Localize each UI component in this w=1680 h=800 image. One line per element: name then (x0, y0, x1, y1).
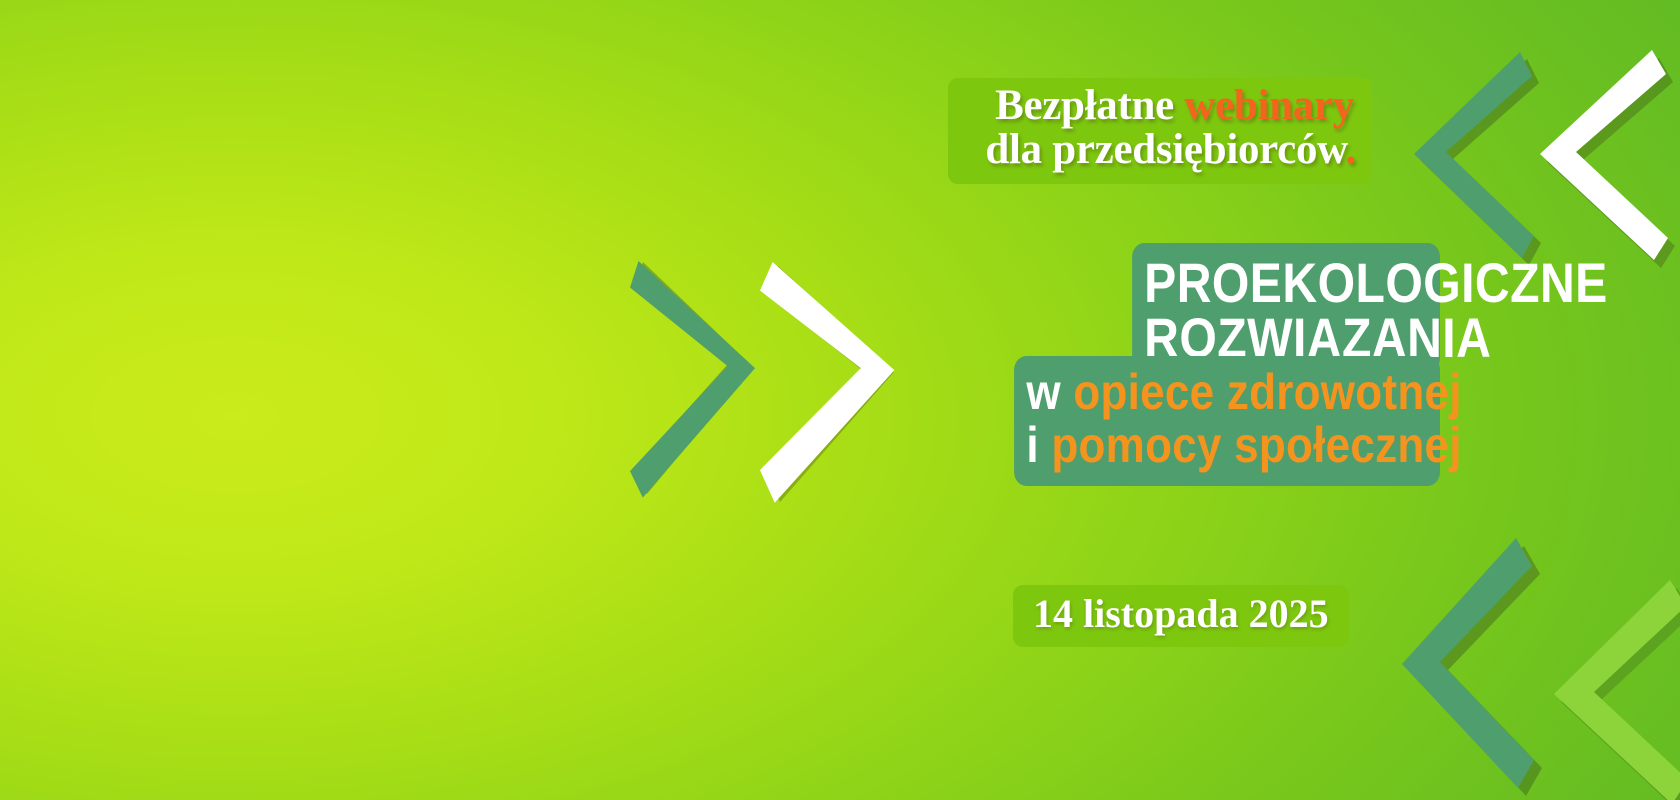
headline-line-4-white: i (1026, 417, 1038, 473)
headline-top-panel: PROEKOLOGICZNE ROZWIĄZANIA (1132, 243, 1440, 372)
kicker-highlight: webinary (1184, 82, 1354, 129)
chevron-right-green-icon (630, 255, 780, 513)
headline-block: PROEKOLOGICZNE ROZWIĄZANIA w opiece zdro… (956, 243, 1440, 486)
headline-line-4-orange: pomocy społecznej (1051, 417, 1461, 473)
headline-bottom-panel: w opiece zdrowotnej i pomocy społecznej (1014, 356, 1440, 486)
headline-line-3: w opiece zdrowotnej (1026, 366, 1427, 419)
headline-line-1: PROEKOLOGICZNE (1144, 255, 1428, 310)
kicker-plain-2: dla przedsiębiorców (985, 126, 1345, 173)
headline-line-3-orange: opiece zdrowotnej (1073, 364, 1461, 420)
kicker-badge: Bezpłatne webinary dla przedsiębiorców. (948, 78, 1372, 184)
kicker-period: . (1346, 126, 1356, 173)
chevron-left-green-bottom-icon (1400, 538, 1552, 790)
headline-line-3-white: w (1026, 364, 1060, 420)
promo-banner: Bezpłatne webinary dla przedsiębiorców. … (0, 0, 1680, 800)
chevron-left-green-icon (1410, 52, 1550, 260)
headline-line-4: i pomocy społecznej (1026, 419, 1427, 472)
chevron-right-white-icon (760, 258, 920, 514)
kicker-line-1: Bezpłatne webinary (964, 84, 1356, 128)
kicker-line-2: dla przedsiębiorców. (964, 128, 1356, 172)
date-badge: 14 listopada 2025 (1013, 585, 1349, 647)
chevron-left-bright-green-icon (1548, 580, 1680, 800)
kicker-plain-1: Bezpłatne (995, 82, 1174, 129)
chevron-left-white-icon (1536, 50, 1680, 262)
